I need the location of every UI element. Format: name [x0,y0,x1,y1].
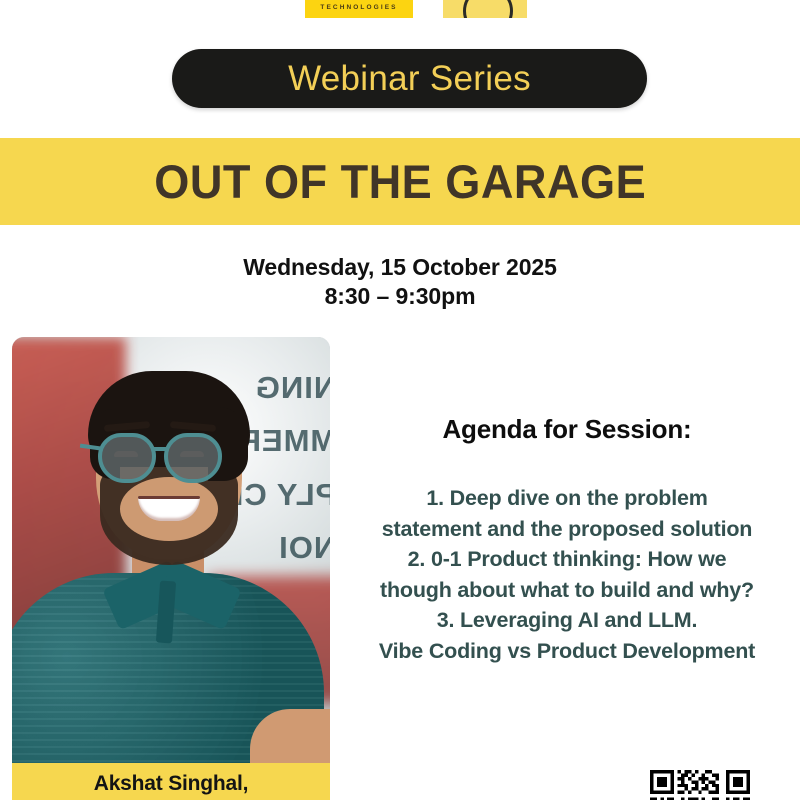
event-time: 8:30 – 9:30pm [0,282,800,311]
agenda-line: 3. Leveraging AI and LLM. [352,605,782,636]
figure-glasses-right-lens [164,433,222,483]
brand-mark-block [443,0,527,18]
speaker-figure [12,337,330,763]
agenda-line: though about what to build and why? [352,575,782,606]
brand-logo-block: TECHNOLOGIES [305,0,413,18]
page-title: OUT OF THE GARAGE [154,154,646,209]
smile-curve-icon [463,0,513,18]
agenda-title: Agenda for Session: [352,414,782,445]
webinar-series-badge: Webinar Series [172,49,647,108]
agenda-line: 1. Deep dive on the problem [352,483,782,514]
figure-mouth-line [138,496,200,499]
webinar-series-label: Webinar Series [288,61,531,96]
speaker-name: Akshat Singhal, [94,772,249,796]
figure-glasses-left-lens [98,433,156,483]
qr-code[interactable] [650,770,750,800]
event-date: Wednesday, 15 October 2025 [0,253,800,282]
webinar-poster: TECHNOLOGIES Webinar Series OUT OF THE G… [0,0,800,800]
speaker-photo: NING MMER PLY CH NOI [12,337,330,763]
brand-tagline: TECHNOLOGIES [320,4,397,11]
agenda-line: 2. 0-1 Product thinking: How we [352,544,782,575]
figure-glasses-bridge [154,447,168,451]
agenda-line: statement and the proposed solution [352,514,782,545]
event-datetime: Wednesday, 15 October 2025 8:30 – 9:30pm [0,253,800,311]
speaker-name-band: Akshat Singhal, [12,763,330,800]
agenda-section: Agenda for Session: 1. Deep dive on the … [352,414,782,666]
title-banner: OUT OF THE GARAGE [0,138,800,225]
agenda-line: Vibe Coding vs Product Development [352,636,782,667]
